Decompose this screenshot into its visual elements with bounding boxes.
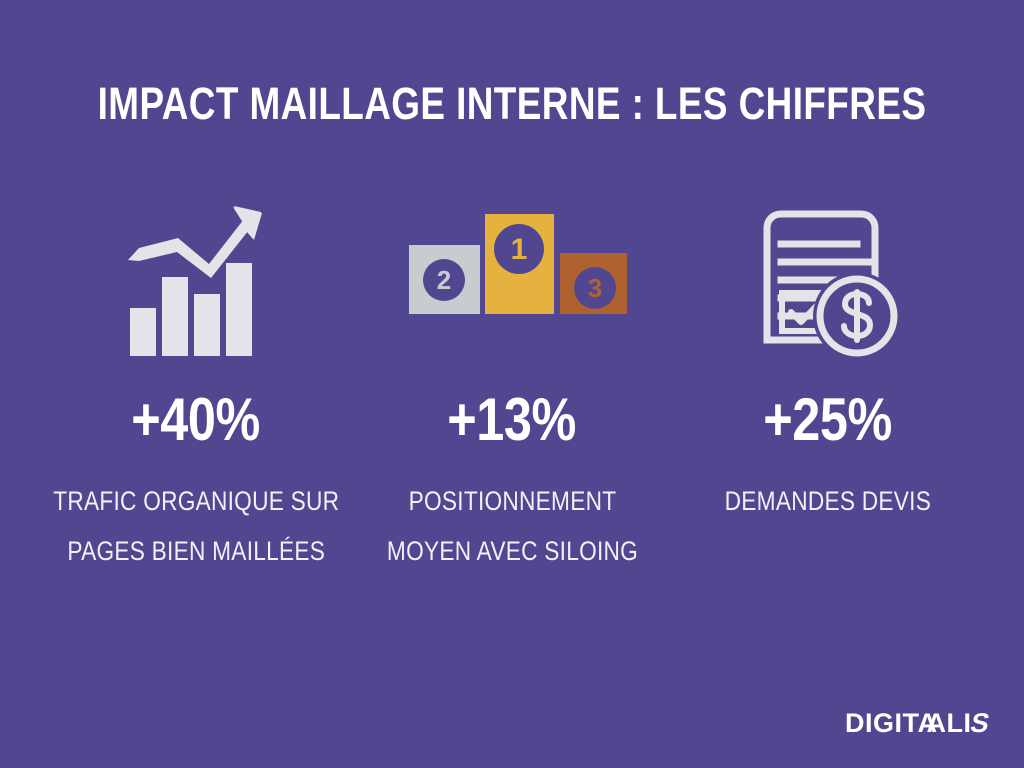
bar-3 (194, 294, 220, 356)
bar-1 (130, 308, 156, 356)
stat-value: +25% (764, 390, 893, 450)
stat-label: POSITIONNEMENT MOYEN AVEC SILOING (386, 476, 637, 576)
stat-label-line-2: PAGES BIEN MAILLÉES (53, 526, 339, 576)
stat-value: +13% (448, 390, 577, 450)
podium-rank-3: 3 (588, 273, 602, 303)
stat-card-quotes: +25% DEMANDES DEVIS (670, 196, 986, 526)
stats-row: +40% TRAFIC ORGANIQUE SUR PAGES BIEN MAI… (0, 196, 1024, 576)
stat-label-line-1: POSITIONNEMENT (386, 476, 637, 526)
stat-label: DEMANDES DEVIS (725, 476, 931, 526)
stat-label: TRAFIC ORGANIQUE SUR PAGES BIEN MAILLÉES (53, 476, 339, 576)
slide-canvas: IMPACT MAILLAGE INTERNE : LES CHIFFRES +… (0, 0, 1024, 768)
invoice-dollar-document-icon (670, 196, 986, 364)
stat-card-traffic: +40% TRAFIC ORGANIQUE SUR PAGES BIEN MAI… (38, 196, 354, 576)
logo-part-s: S (968, 708, 993, 738)
bar-4 (226, 263, 252, 356)
logo-part-a2: A (926, 708, 946, 738)
stat-label-line-1: TRAFIC ORGANIQUE SUR (53, 476, 339, 526)
stat-value: +40% (132, 390, 261, 450)
podium-rank-2: 2 (437, 265, 451, 295)
brand-logo: DIGITAALIS (845, 708, 990, 738)
page-title: IMPACT MAILLAGE INTERNE : LES CHIFFRES (92, 78, 932, 130)
bar-2 (162, 277, 188, 356)
stat-label-line-1: DEMANDES DEVIS (725, 476, 931, 526)
logo-part-1: DIGIT (845, 708, 918, 738)
stat-label-line-2: MOYEN AVEC SILOING (386, 526, 637, 576)
growth-bar-chart-arrow-icon (38, 196, 354, 364)
podium-ranking-icon: 2 1 3 (354, 196, 670, 364)
stat-card-ranking: 2 1 3 +13% POSITIONNEMENT MOYEN AVEC SIL… (354, 196, 670, 576)
podium-rank-1: 1 (511, 233, 528, 266)
